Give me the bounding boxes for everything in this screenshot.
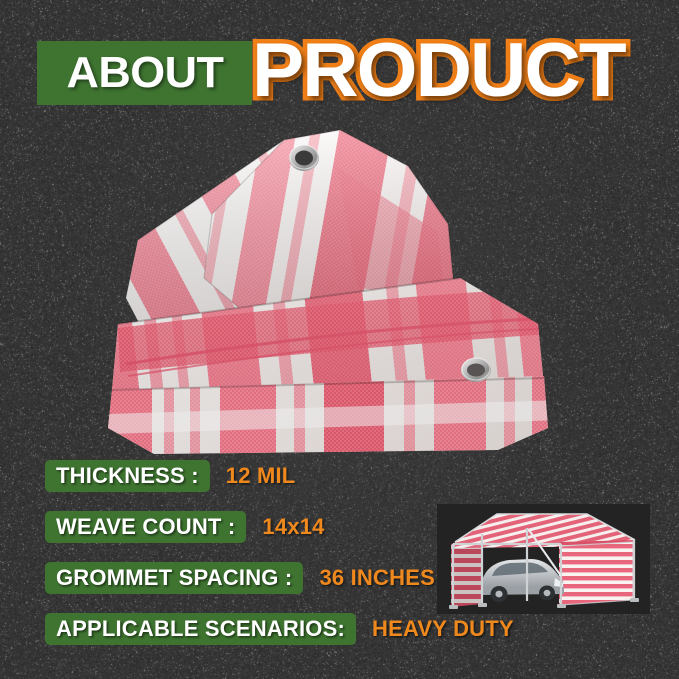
carport-canopy-photo bbox=[437, 504, 650, 614]
spec-value-applicable-scenarios: HEAVY DUTY bbox=[372, 617, 514, 640]
spec-row-thickness: THICKNESS : 12 MIL bbox=[45, 459, 645, 493]
grommet-icon bbox=[289, 145, 319, 171]
grommet-icon bbox=[461, 358, 491, 382]
spec-value-weave-count: 14x14 bbox=[262, 515, 324, 538]
spec-value-grommet-spacing: 36 INCHES bbox=[319, 566, 435, 589]
spec-value-thickness: 12 MIL bbox=[226, 464, 296, 487]
folded-tarp-photo bbox=[108, 128, 563, 458]
spec-label-applicable-scenarios: APPLICABLE SCENARIOS: bbox=[45, 613, 356, 645]
spec-label-thickness: THICKNESS : bbox=[45, 460, 210, 492]
spec-label-weave-count: WEAVE COUNT : bbox=[45, 511, 246, 543]
spec-row-applicable-scenarios: APPLICABLE SCENARIOS: HEAVY DUTY bbox=[45, 612, 645, 646]
page-header: ABOUT PRODUCT bbox=[0, 30, 679, 116]
about-title-text: ABOUT bbox=[66, 51, 223, 95]
product-title-text: PRODUCT bbox=[252, 28, 625, 114]
about-title-box: ABOUT bbox=[37, 41, 252, 105]
spec-label-grommet-spacing: GROMMET SPACING : bbox=[45, 562, 303, 594]
infographic-page: ABOUT PRODUCT bbox=[0, 0, 679, 679]
